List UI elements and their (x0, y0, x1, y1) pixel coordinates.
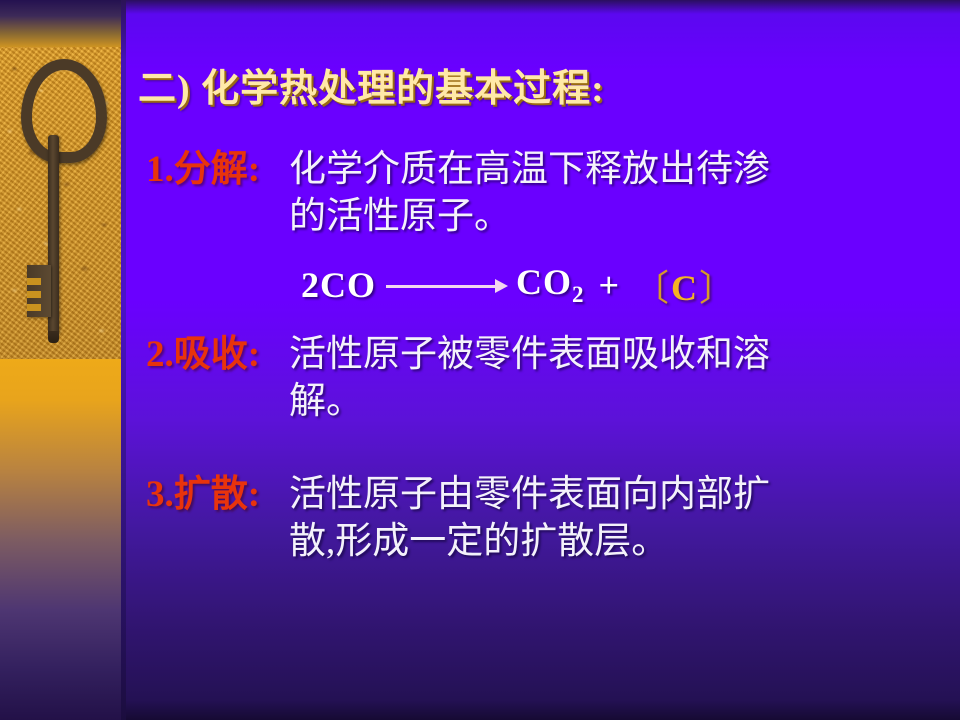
step-1-label: 1.分解: (126, 146, 289, 193)
key-tooth (27, 278, 41, 285)
reaction-arrow-icon (382, 267, 510, 303)
step-2-second-line: 解。 (126, 378, 960, 425)
step-2-label: 2.吸收: (126, 331, 289, 378)
bracket-open: 〔 (633, 268, 671, 308)
step-1-second-line: 的活性原子。 (126, 193, 960, 240)
process-step-2: 2.吸收:活性原子被零件表面吸收和溶 解。 (126, 331, 960, 425)
arrow-head (495, 279, 508, 293)
step-1-first-line: 1.分解:化学介质在高温下释放出待渗 (126, 146, 960, 193)
equation-plus: + (599, 264, 620, 306)
equation-product: CO2 (516, 261, 585, 308)
chemical-equation: 2CO CO2 + 〔C〕 (301, 259, 737, 311)
key-tooth (27, 304, 41, 311)
equation-reactant: 2CO (301, 264, 376, 306)
step-2-first-line: 2.吸收:活性原子被零件表面吸收和溶 (126, 331, 960, 378)
step-3-text-line1: 活性原子由零件表面向内部扩 (289, 474, 770, 515)
presentation-slide: 二) 化学热处理的基本过程: 1.分解:化学介质在高温下释放出待渗 的活性原子。… (0, 0, 960, 720)
step-3-first-line: 3.扩散:活性原子由零件表面向内部扩 (126, 471, 960, 518)
page-title: 二) 化学热处理的基本过程: (138, 57, 605, 112)
step-2-text-line2: 解。 (289, 381, 363, 422)
process-step-1: 1.分解:化学介质在高温下释放出待渗 的活性原子。 (126, 146, 960, 240)
sidebar-image-strip (0, 0, 121, 720)
step-1-text-line1: 化学介质在高温下释放出待渗 (289, 149, 770, 190)
equation-product-formula: CO (516, 262, 572, 302)
equation-product-subscript: 2 (572, 283, 585, 308)
equation-carbon-term: 〔C〕 (633, 259, 737, 311)
step-3-second-line: 散,形成一定的扩散层。 (126, 518, 960, 565)
equation-carbon: C (671, 268, 699, 308)
step-1-text-line2: 的活性原子。 (289, 196, 511, 237)
antique-key-icon (0, 47, 121, 359)
key-tooth (27, 291, 41, 298)
bracket-close: 〕 (699, 268, 737, 308)
process-step-3: 3.扩散:活性原子由零件表面向内部扩 散,形成一定的扩散层。 (126, 471, 960, 565)
key-tip (48, 331, 59, 343)
step-3-text-line2: 散,形成一定的扩散层。 (289, 521, 668, 562)
step-2-text-line1: 活性原子被零件表面吸收和溶 (289, 334, 770, 375)
key-bow (21, 59, 107, 163)
arrow-line (386, 285, 498, 288)
slide-content: 二) 化学热处理的基本过程: 1.分解:化学介质在高温下释放出待渗 的活性原子。… (126, 0, 960, 720)
step-3-label: 3.扩散: (126, 471, 289, 518)
